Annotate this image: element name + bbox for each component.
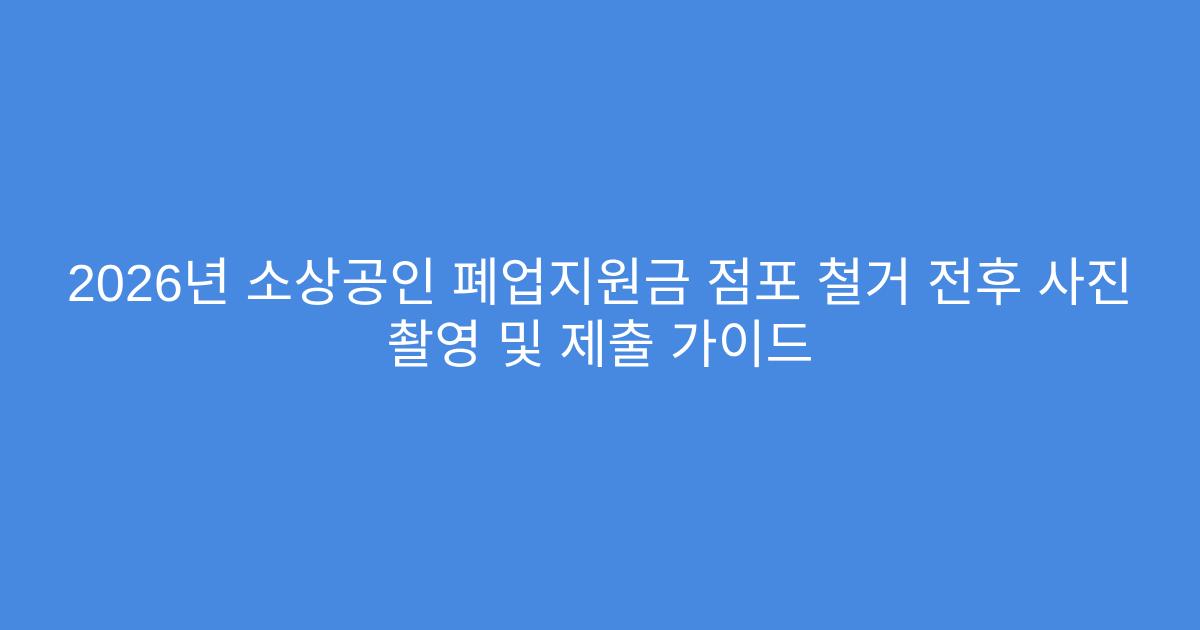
banner-title: 2026년 소상공인 폐업지원금 점포 철거 전후 사진 촬영 및 제출 가이드 <box>56 253 1144 377</box>
banner-card: 2026년 소상공인 폐업지원금 점포 철거 전후 사진 촬영 및 제출 가이드 <box>0 0 1200 630</box>
title-block: 2026년 소상공인 폐업지원금 점포 철거 전후 사진 촬영 및 제출 가이드 <box>56 253 1144 377</box>
